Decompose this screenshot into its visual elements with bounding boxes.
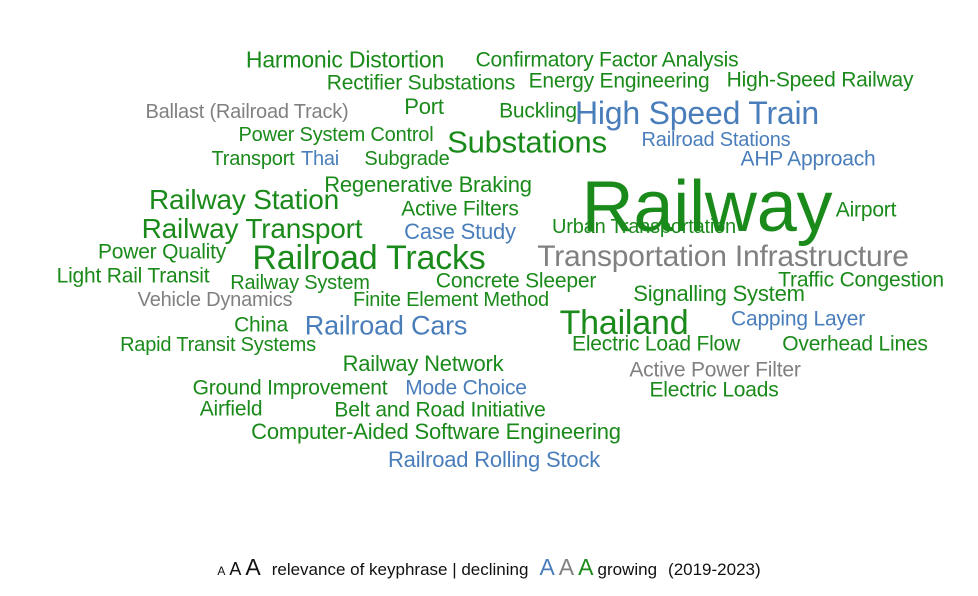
wordcloud-word: Finite Element Method <box>353 290 549 310</box>
wordcloud-word: Airport <box>836 200 896 221</box>
legend-size-large-a: A <box>245 556 260 579</box>
wordcloud-word: Active Power Filter <box>629 360 800 381</box>
wordcloud-word: Electric Load Flow <box>572 334 740 355</box>
wordcloud-word: High-Speed Railway <box>727 70 914 91</box>
wordcloud-word: Railroad Cars <box>305 313 467 340</box>
wordcloud-word: Railway Station <box>149 186 339 214</box>
legend-neutral-a: A <box>559 556 574 579</box>
legend-relevance-label: relevance of keyphrase | declining <box>272 560 529 580</box>
wordcloud-word: Confirmatory Factor Analysis <box>476 50 739 71</box>
wordcloud-word: Port <box>404 96 444 118</box>
wordcloud-word: Vehicle Dynamics <box>138 290 293 310</box>
legend-period: (2019-2023) <box>668 560 761 580</box>
wordcloud-word: Ballast (Railroad Track) <box>145 102 348 122</box>
wordcloud-word: Power System Control <box>239 125 434 145</box>
wordcloud-word: Light Rail Transit <box>57 266 210 287</box>
wordcloud-word: Mode Choice <box>405 378 527 399</box>
wordcloud-canvas: Harmonic DistortionConfirmatory Factor A… <box>0 0 978 510</box>
wordcloud-word: Rapid Transit Systems <box>120 335 316 355</box>
wordcloud-word: Computer-Aided Software Engineering <box>251 421 621 443</box>
wordcloud-word: Capping Layer <box>731 309 865 330</box>
legend-growing-label: growing <box>597 560 657 580</box>
wordcloud-word: Railway Network <box>343 353 504 375</box>
wordcloud-word: Regenerative Braking <box>324 174 532 196</box>
wordcloud-word: Urban Transportation <box>552 217 736 237</box>
wordcloud-word: Electric Loads <box>649 380 778 401</box>
wordcloud-word: Transport <box>211 149 294 169</box>
wordcloud-word: Ground Improvement <box>193 378 388 399</box>
wordcloud-word: Energy Engineering <box>529 71 710 92</box>
legend-size-medium-a: A <box>229 560 241 578</box>
wordcloud-word: Transportation Infrastructure <box>537 242 909 272</box>
wordcloud-word: Signalling System <box>633 283 804 305</box>
wordcloud-word: Harmonic Distortion <box>246 49 444 72</box>
wordcloud-word: Thai <box>301 149 339 169</box>
wordcloud-word: Substations <box>447 127 607 158</box>
wordcloud-word: Subgrade <box>364 149 449 169</box>
wordcloud-word: China <box>234 315 288 336</box>
wordcloud-word: High Speed Train <box>575 97 819 129</box>
wordcloud-legend: A A A relevance of keyphrase | declining… <box>0 540 978 596</box>
wordcloud-word: Buckling <box>499 101 577 122</box>
wordcloud-figure: Harmonic DistortionConfirmatory Factor A… <box>0 0 978 596</box>
legend-inner: A A A relevance of keyphrase | declining… <box>217 556 760 580</box>
wordcloud-word: Active Filters <box>401 199 518 220</box>
wordcloud-word: Power Quality <box>98 242 226 263</box>
legend-declining-a: A <box>539 556 554 579</box>
legend-size-small-a: A <box>217 565 225 577</box>
wordcloud-word: Rectifier Substations <box>327 73 515 94</box>
wordcloud-word: Overhead Lines <box>782 334 927 355</box>
wordcloud-word: Belt and Road Initiative <box>334 400 545 421</box>
wordcloud-word: Railroad Rolling Stock <box>388 449 600 471</box>
legend-growing-a: A <box>578 556 593 579</box>
wordcloud-word: Airfield <box>200 399 263 420</box>
